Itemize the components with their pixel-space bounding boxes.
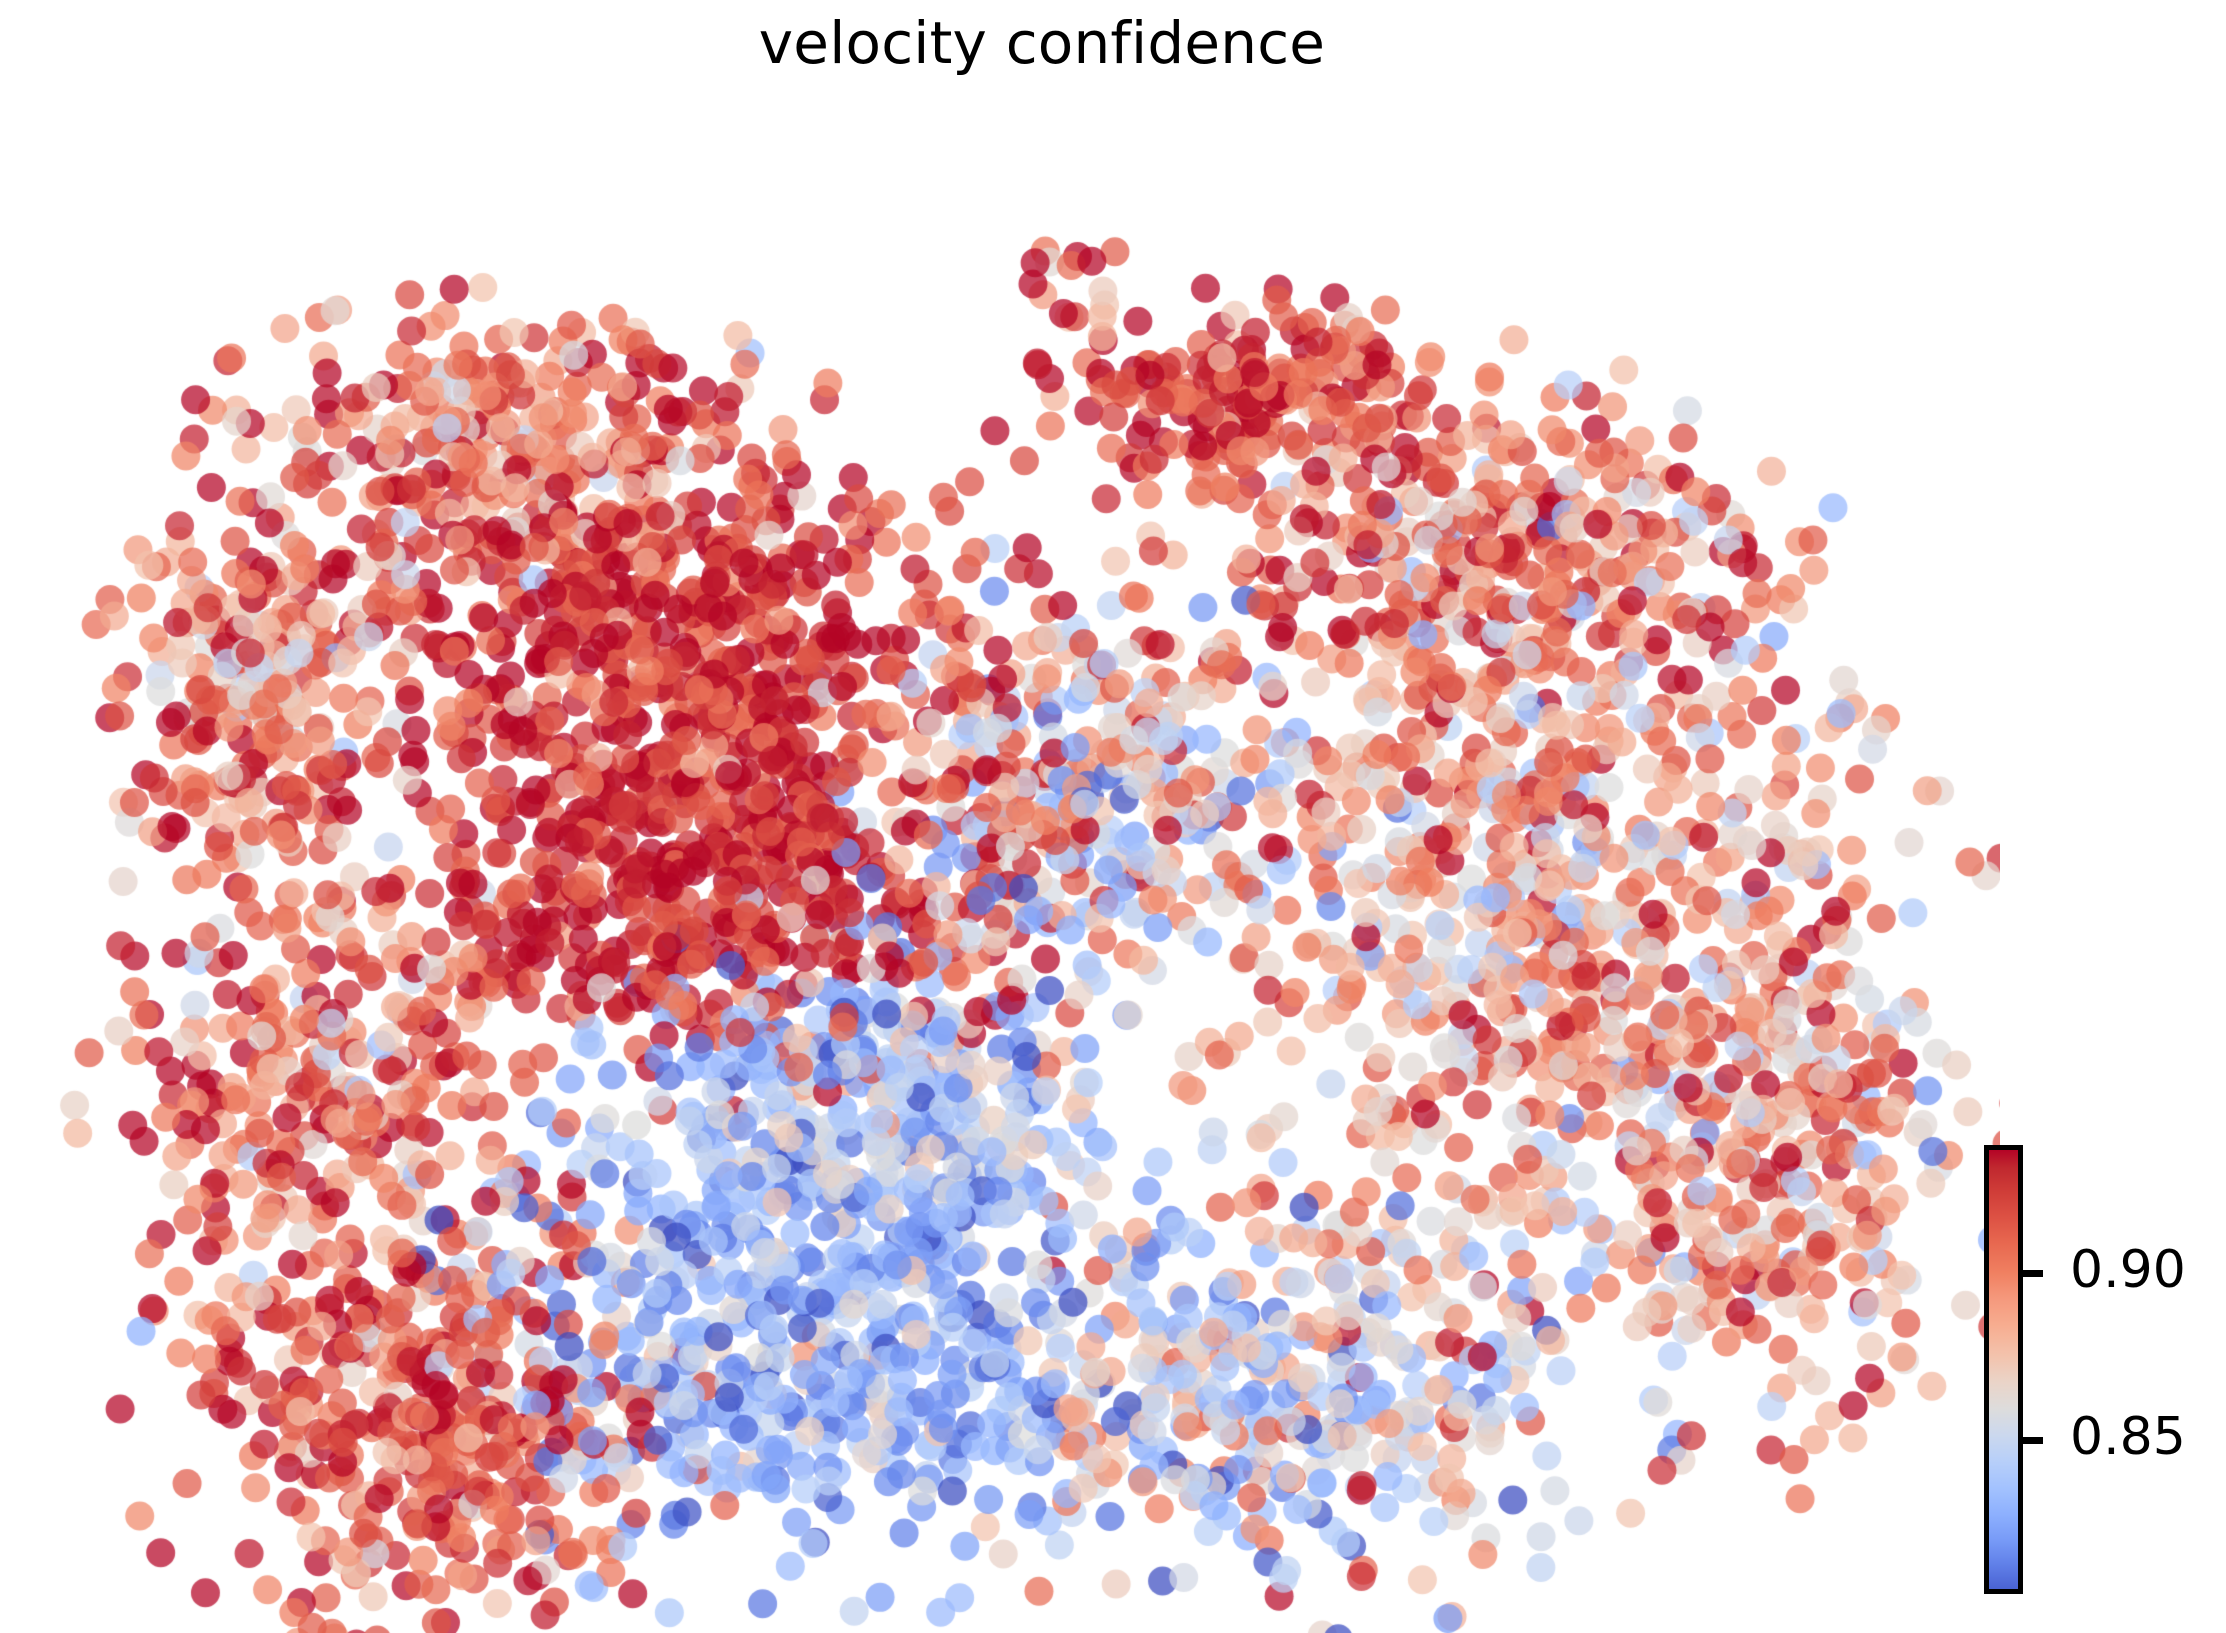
colorbar-tick-0.90 (2023, 1270, 2043, 1277)
colorbar-border (1984, 1145, 2023, 1594)
page-title: velocity confidence (0, 14, 2084, 72)
colorbar-label-0.85: 0.85 (2070, 1411, 2186, 1463)
colorbar[interactable]: 0.90 0.85 (1984, 1145, 2226, 1595)
scatter-plot-axes (0, 95, 2000, 1633)
velocity-confidence-figure: velocity confidence 0.90 0.85 (0, 0, 2226, 1633)
colorbar-tick-0.85 (2023, 1437, 2043, 1444)
scatter-points-canvas (0, 95, 2000, 1633)
colorbar-label-0.90: 0.90 (2070, 1244, 2186, 1296)
